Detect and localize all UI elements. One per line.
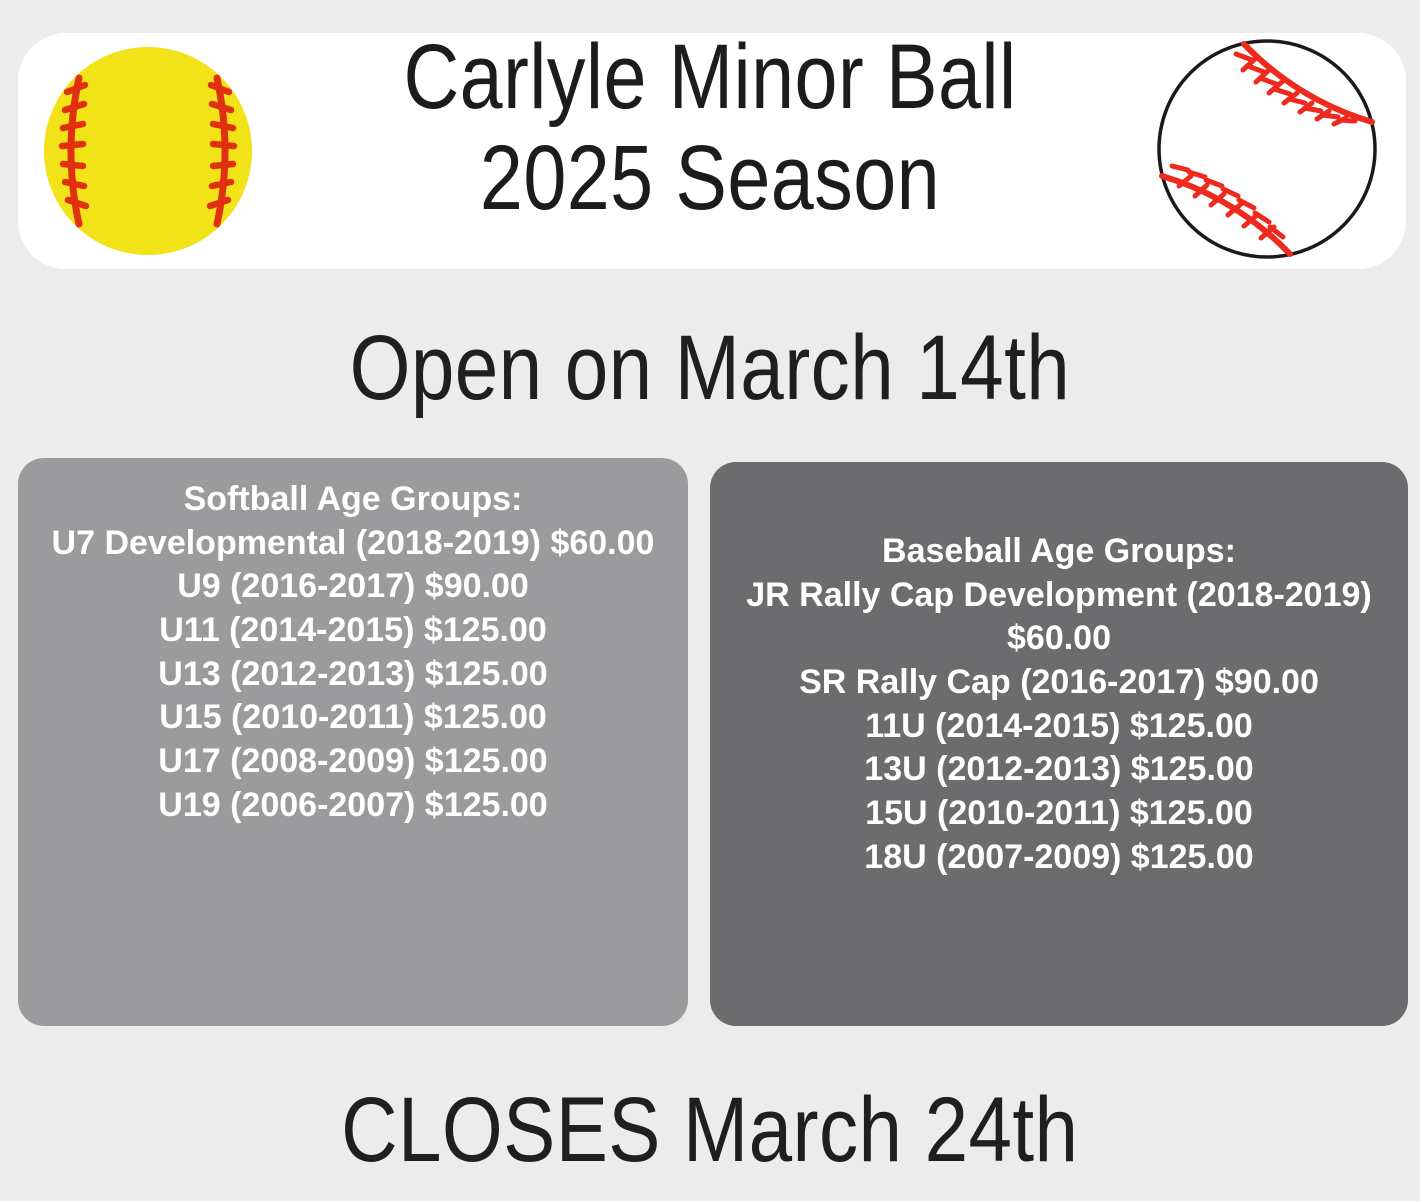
softball-age-line: U7 Developmental (2018-2019) $60.00 bbox=[26, 522, 680, 566]
baseball-icon bbox=[1148, 30, 1386, 268]
closes-notice: CLOSES March 24th bbox=[0, 1078, 1420, 1183]
softball-panel-heading: Softball Age Groups: bbox=[26, 478, 680, 522]
title-line-1: Carlyle Minor Ball bbox=[357, 30, 1063, 125]
softball-age-line: U13 (2012-2013) $125.00 bbox=[26, 653, 680, 697]
baseball-age-line: 18U (2007-2009) $125.00 bbox=[726, 836, 1392, 880]
softball-age-line: U11 (2014-2015) $125.00 bbox=[26, 609, 680, 653]
softball-age-line: U9 (2016-2017) $90.00 bbox=[26, 565, 680, 609]
baseball-age-line: JR Rally Cap Development (2018-2019) $60… bbox=[726, 574, 1392, 661]
baseball-age-line: 13U (2012-2013) $125.00 bbox=[726, 748, 1392, 792]
softball-age-groups-panel: Softball Age Groups: U7 Developmental (2… bbox=[18, 458, 688, 1026]
baseball-panel-heading: Baseball Age Groups: bbox=[726, 530, 1392, 574]
title-line-2: 2025 Season bbox=[357, 131, 1063, 226]
softball-age-line: U15 (2010-2011) $125.00 bbox=[26, 696, 680, 740]
softball-icon bbox=[37, 40, 259, 262]
softball-age-line: U17 (2008-2009) $125.00 bbox=[26, 740, 680, 784]
page-title: Carlyle Minor Ball 2025 Season bbox=[290, 30, 1130, 226]
baseball-age-line: 15U (2010-2011) $125.00 bbox=[726, 792, 1392, 836]
softball-age-line: U19 (2006-2007) $125.00 bbox=[26, 784, 680, 828]
closes-notice-text: CLOSES March 24th bbox=[341, 1078, 1078, 1183]
baseball-age-line: SR Rally Cap (2016-2017) $90.00 bbox=[726, 661, 1392, 705]
open-notice: Open on March 14th bbox=[0, 316, 1420, 421]
open-notice-text: Open on March 14th bbox=[350, 316, 1071, 421]
baseball-age-groups-panel: Baseball Age Groups: JR Rally Cap Develo… bbox=[710, 462, 1408, 1026]
baseball-age-line: 11U (2014-2015) $125.00 bbox=[726, 705, 1392, 749]
